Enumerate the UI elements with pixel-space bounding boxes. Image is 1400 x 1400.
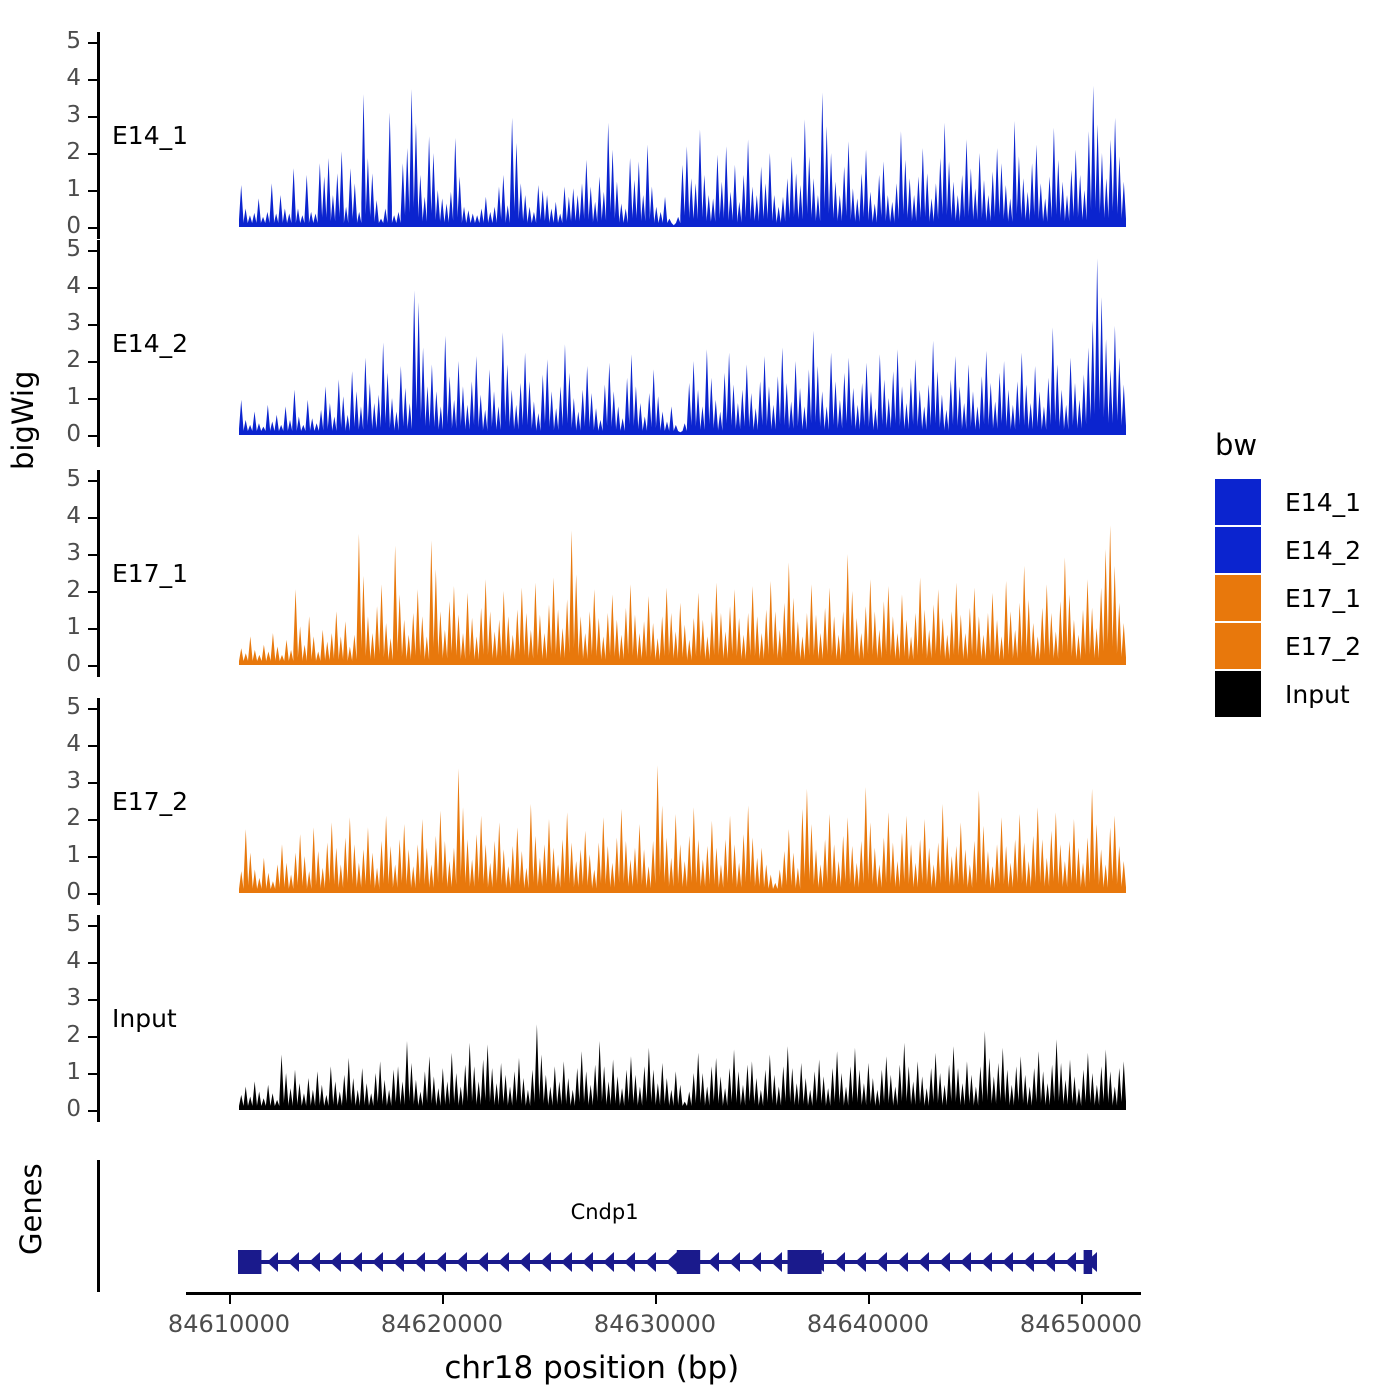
legend-item-e17_2[interactable]: E17_2 xyxy=(1215,622,1361,670)
track-label-e14_1: E14_1 xyxy=(112,121,188,150)
y-tick-label: 3 xyxy=(21,312,81,335)
signal-area-e14_2 xyxy=(239,250,1126,439)
y-tick-mark xyxy=(88,708,97,710)
y-tick-label: 2 xyxy=(21,141,81,164)
legend-color-swatch xyxy=(1215,527,1261,573)
y-tick-mark xyxy=(88,554,97,556)
y-tick-mark xyxy=(88,116,97,118)
y-tick-label: 4 xyxy=(21,505,81,528)
x-tick-mark xyxy=(1081,1295,1083,1304)
y-tick-label: 4 xyxy=(21,733,81,756)
legend-items: E14_1E14_2E17_1E17_2Input xyxy=(1215,478,1361,718)
y-tick-label: 3 xyxy=(21,542,81,565)
legend: bw E14_1E14_2E17_1E17_2Input xyxy=(1215,428,1361,718)
signal-track-e14_2 xyxy=(239,250,1126,439)
signal-track-e14_1 xyxy=(239,42,1126,231)
x-tick-label: 84650000 xyxy=(1020,1310,1142,1338)
legend-item-label: E17_2 xyxy=(1285,632,1361,661)
y-axis-spine xyxy=(97,915,100,1122)
y-tick-label: 4 xyxy=(21,275,81,298)
legend-item-e17_1[interactable]: E17_1 xyxy=(1215,574,1361,622)
y-tick-label: 5 xyxy=(21,913,81,936)
y-axis-spine xyxy=(97,32,100,239)
y-axis-spine xyxy=(97,698,100,905)
track-label-input: Input xyxy=(112,1004,177,1033)
signal-area-e14_1 xyxy=(239,42,1126,231)
y-tick-label: 1 xyxy=(21,1061,81,1084)
legend-item-e14_2[interactable]: E14_2 xyxy=(1215,526,1361,574)
y-tick-mark xyxy=(88,591,97,593)
signal-area-input xyxy=(239,925,1126,1114)
y-tick-mark xyxy=(88,745,97,747)
y-tick-mark xyxy=(88,517,97,519)
x-tick-label: 84610000 xyxy=(168,1310,290,1338)
legend-item-label: E14_1 xyxy=(1285,488,1361,517)
legend-color-swatch xyxy=(1215,575,1261,621)
y-tick-label: 2 xyxy=(21,349,81,372)
x-tick-mark xyxy=(655,1295,657,1304)
track-label-e17_1: E17_1 xyxy=(112,559,188,588)
y-tick-label: 4 xyxy=(21,950,81,973)
y-tick-label: 3 xyxy=(21,104,81,127)
y-tick-label: 5 xyxy=(21,30,81,53)
y-tick-mark xyxy=(88,893,97,895)
signal-track-e17_2 xyxy=(239,708,1126,897)
y-tick-mark xyxy=(88,480,97,482)
y-tick-label: 0 xyxy=(21,653,81,676)
y-axis-label-genes: Genes xyxy=(14,1163,48,1255)
track-label-e17_2: E17_2 xyxy=(112,787,188,816)
y-axis-spine xyxy=(97,240,100,447)
y-tick-mark xyxy=(88,324,97,326)
x-tick-mark xyxy=(229,1295,231,1304)
x-tick-label: 84620000 xyxy=(381,1310,503,1338)
x-tick-mark xyxy=(868,1295,870,1304)
y-tick-mark xyxy=(88,153,97,155)
y-tick-label: 2 xyxy=(21,579,81,602)
y-tick-label: 2 xyxy=(21,1024,81,1047)
y-tick-mark xyxy=(88,1036,97,1038)
gene-model-cndp1[interactable] xyxy=(238,1245,1098,1279)
gene-track[interactable] xyxy=(238,1245,1098,1279)
y-tick-label: 0 xyxy=(21,881,81,904)
y-tick-label: 5 xyxy=(21,468,81,491)
y-tick-label: 4 xyxy=(21,67,81,90)
y-tick-mark xyxy=(88,628,97,630)
legend-item-input[interactable]: Input xyxy=(1215,670,1361,718)
legend-color-swatch xyxy=(1215,671,1261,717)
signal-area-e17_1 xyxy=(239,480,1126,669)
legend-item-label: E14_2 xyxy=(1285,536,1361,565)
y-tick-mark xyxy=(88,398,97,400)
y-tick-mark xyxy=(88,1110,97,1112)
x-tick-mark xyxy=(442,1295,444,1304)
signal-area-e17_2 xyxy=(239,708,1126,897)
x-tick-label: 84640000 xyxy=(807,1310,929,1338)
genes-axis-spine xyxy=(97,1160,100,1292)
y-tick-mark xyxy=(88,227,97,229)
y-tick-mark xyxy=(88,250,97,252)
y-tick-mark xyxy=(88,42,97,44)
y-tick-mark xyxy=(88,925,97,927)
legend-item-e14_1[interactable]: E14_1 xyxy=(1215,478,1361,526)
signal-track-e17_1 xyxy=(239,480,1126,669)
y-tick-label: 1 xyxy=(21,178,81,201)
y-tick-mark xyxy=(88,287,97,289)
y-tick-mark xyxy=(88,782,97,784)
x-axis-line xyxy=(186,1292,1141,1295)
y-tick-label: 0 xyxy=(21,1098,81,1121)
y-tick-mark xyxy=(88,999,97,1001)
y-tick-label: 2 xyxy=(21,807,81,830)
y-tick-label: 5 xyxy=(21,238,81,261)
legend-color-swatch xyxy=(1215,479,1261,525)
bigwig-genome-browser-figure: bigWig Genes 543210E14_1543210E14_254321… xyxy=(0,0,1400,1400)
y-tick-mark xyxy=(88,665,97,667)
legend-color-swatch xyxy=(1215,623,1261,669)
y-tick-mark xyxy=(88,856,97,858)
gene-name-label: Cndp1 xyxy=(571,1200,639,1224)
y-tick-label: 3 xyxy=(21,770,81,793)
y-tick-label: 0 xyxy=(21,423,81,446)
legend-item-label: E17_1 xyxy=(1285,584,1361,613)
track-label-e14_2: E14_2 xyxy=(112,329,188,358)
legend-title: bw xyxy=(1215,428,1361,462)
y-tick-label: 1 xyxy=(21,386,81,409)
y-tick-label: 1 xyxy=(21,844,81,867)
y-tick-mark xyxy=(88,79,97,81)
y-tick-mark xyxy=(88,190,97,192)
signal-track-input xyxy=(239,925,1126,1114)
y-tick-label: 3 xyxy=(21,987,81,1010)
legend-item-label: Input xyxy=(1285,680,1350,709)
y-tick-mark xyxy=(88,819,97,821)
y-axis-spine xyxy=(97,470,100,677)
y-tick-mark xyxy=(88,962,97,964)
x-tick-label: 84630000 xyxy=(594,1310,716,1338)
y-tick-mark xyxy=(88,435,97,437)
y-tick-label: 5 xyxy=(21,696,81,719)
y-tick-mark xyxy=(88,1073,97,1075)
x-axis-title: chr18 position (bp) xyxy=(0,1350,1184,1386)
y-tick-mark xyxy=(88,361,97,363)
y-tick-label: 1 xyxy=(21,616,81,639)
y-tick-label: 0 xyxy=(21,215,81,238)
